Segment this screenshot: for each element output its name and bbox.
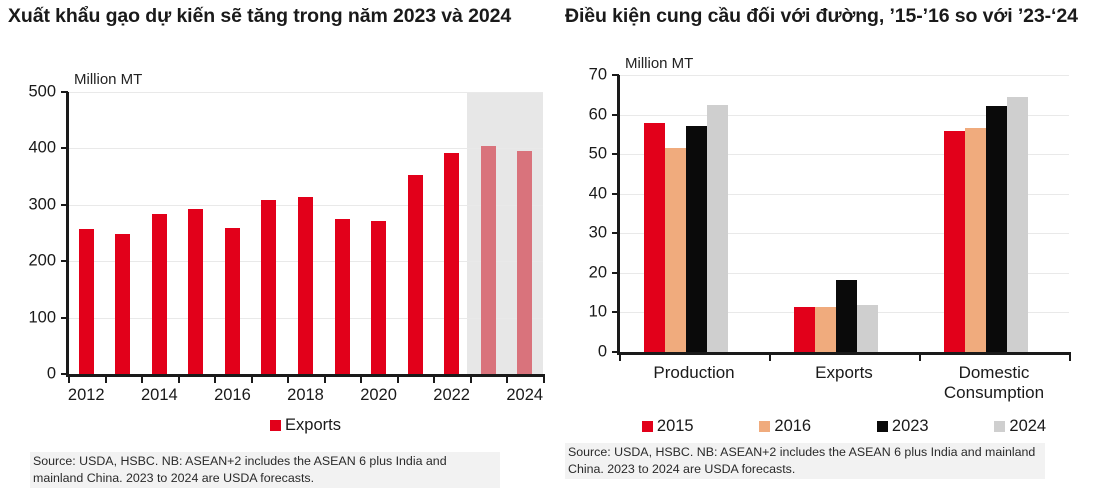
x-tick-mark xyxy=(769,354,771,361)
y-tick-mark xyxy=(612,311,619,313)
y-tick-mark xyxy=(61,147,68,149)
y-tick-label-500: 500 xyxy=(12,83,56,102)
right-source-note: Source: USDA, HSBC. NB: ASEAN+2 includes… xyxy=(565,443,1045,479)
gridline xyxy=(619,75,1069,76)
y-tick-mark xyxy=(612,74,619,76)
bar-exports-2017 xyxy=(261,200,276,374)
right-x-axis xyxy=(617,352,1071,355)
y-tick-label-40: 40 xyxy=(571,184,607,203)
x-tick-mark xyxy=(543,376,545,383)
y-tick-mark xyxy=(61,317,68,319)
legend-swatch-icon xyxy=(877,421,888,432)
y-tick-label-200: 200 xyxy=(12,252,56,271)
y-tick-label-20: 20 xyxy=(571,263,607,282)
x-tick-mark xyxy=(178,376,180,383)
bar-2023-exports xyxy=(836,280,857,352)
y-tick-label-0: 0 xyxy=(571,343,607,362)
category-label-production: Production xyxy=(619,363,769,383)
right-chart-title: Điều kiện cung cầu đối với đường, ’15-’1… xyxy=(553,0,1105,62)
right-axis-unit-label: Million MT xyxy=(625,55,693,72)
x-tick-mark xyxy=(506,376,508,383)
legend-item-2023[interactable]: 2023 xyxy=(877,417,929,436)
legend-swatch-icon xyxy=(994,421,1005,432)
bar-exports-2023 xyxy=(481,146,496,374)
bar-exports-2014 xyxy=(152,214,167,374)
y-tick-label-70: 70 xyxy=(571,66,607,85)
left-y-axis xyxy=(66,92,69,376)
x-tick-mark xyxy=(619,354,621,361)
y-tick-mark xyxy=(61,91,68,93)
y-tick-label-300: 300 xyxy=(12,195,56,214)
gridline xyxy=(68,148,543,149)
bar-exports-2020 xyxy=(371,221,386,374)
x-tick-mark xyxy=(141,376,143,383)
bar-2016-domestic-consumption xyxy=(965,128,986,352)
gridline xyxy=(68,92,543,93)
y-tick-label-60: 60 xyxy=(571,105,607,124)
y-tick-label-100: 100 xyxy=(12,308,56,327)
y-tick-mark xyxy=(612,232,619,234)
bar-exports-2012 xyxy=(79,229,94,374)
right-chart-area: Million MT 010203040506070ProductionExpo… xyxy=(561,62,1081,442)
bar-2024-exports xyxy=(857,305,878,352)
x-tick-mark xyxy=(397,376,399,383)
y-tick-label-30: 30 xyxy=(571,224,607,243)
bar-exports-2024 xyxy=(517,151,532,374)
y-tick-mark xyxy=(61,260,68,262)
y-tick-mark xyxy=(61,373,68,375)
x-tick-mark xyxy=(68,376,70,383)
y-tick-mark xyxy=(612,272,619,274)
x-tick-label-2020: 2020 xyxy=(349,386,409,405)
legend-label: 2016 xyxy=(774,417,811,436)
left-axis-unit-label: Million MT xyxy=(74,71,142,88)
bar-2024-domestic-consumption xyxy=(1007,97,1028,352)
y-tick-mark xyxy=(612,193,619,195)
bar-2015-domestic-consumption xyxy=(944,131,965,352)
left-x-axis xyxy=(66,374,545,377)
left-source-note: Source: USDA, HSBC. NB: ASEAN+2 includes… xyxy=(30,452,500,488)
legend-swatch-icon xyxy=(759,421,770,432)
y-tick-label-50: 50 xyxy=(571,145,607,164)
bar-2015-production xyxy=(644,123,665,353)
bar-2024-production xyxy=(707,105,728,352)
left-chart-legend: Exports xyxy=(68,416,543,435)
x-tick-mark xyxy=(214,376,216,383)
x-tick-label-2018: 2018 xyxy=(276,386,336,405)
legend-item-exports[interactable]: Exports xyxy=(270,416,341,435)
y-tick-mark xyxy=(612,114,619,116)
legend-item-2016[interactable]: 2016 xyxy=(759,417,811,436)
bar-2023-domestic-consumption xyxy=(986,106,1007,352)
category-label-exports: Exports xyxy=(769,363,919,383)
bar-exports-2015 xyxy=(188,209,203,374)
x-tick-mark xyxy=(360,376,362,383)
x-tick-mark xyxy=(105,376,107,383)
bar-2016-production xyxy=(665,148,686,352)
legend-swatch-icon xyxy=(642,421,653,432)
x-tick-label-2022: 2022 xyxy=(422,386,482,405)
y-tick-mark xyxy=(612,351,619,353)
legend-swatch-icon xyxy=(270,420,281,431)
x-tick-label-2012: 2012 xyxy=(56,386,116,405)
legend-label: 2023 xyxy=(892,417,929,436)
x-tick-mark xyxy=(287,376,289,383)
x-tick-mark xyxy=(324,376,326,383)
x-tick-label-2016: 2016 xyxy=(202,386,262,405)
y-tick-label-10: 10 xyxy=(571,303,607,322)
right-plot-region xyxy=(619,75,1069,352)
legend-label: 2015 xyxy=(657,417,694,436)
legend-item-2024[interactable]: 2024 xyxy=(994,417,1046,436)
y-tick-label-400: 400 xyxy=(12,139,56,158)
x-tick-mark xyxy=(433,376,435,383)
x-tick-label-2014: 2014 xyxy=(129,386,189,405)
y-tick-mark xyxy=(61,204,68,206)
right-chart-legend: 2015201620232024 xyxy=(609,417,1079,436)
right-chart-panel: Điều kiện cung cầu đối với đường, ’15-’1… xyxy=(553,0,1105,500)
legend-label: 2024 xyxy=(1009,417,1046,436)
x-tick-mark xyxy=(470,376,472,383)
bar-exports-2022 xyxy=(444,153,459,374)
bar-exports-2019 xyxy=(335,219,350,374)
legend-label: Exports xyxy=(285,416,341,435)
y-tick-mark xyxy=(612,153,619,155)
bar-exports-2013 xyxy=(115,234,130,374)
legend-item-2015[interactable]: 2015 xyxy=(642,417,694,436)
x-tick-mark xyxy=(251,376,253,383)
bar-2023-production xyxy=(686,126,707,352)
x-tick-mark xyxy=(1069,354,1071,361)
left-chart-area: Million MT 01002003004005002012201420162… xyxy=(8,62,558,449)
x-tick-label-2024: 2024 xyxy=(495,386,555,405)
bar-exports-2016 xyxy=(225,228,240,374)
category-label-domestic-consumption: Domestic Consumption xyxy=(919,363,1069,402)
y-tick-label-0: 0 xyxy=(12,365,56,384)
bar-exports-2018 xyxy=(298,197,313,374)
x-tick-mark xyxy=(919,354,921,361)
left-chart-panel: Xuất khẩu gạo dự kiến sẽ tăng trong năm … xyxy=(0,0,553,500)
dual-chart-figure: Xuất khẩu gạo dự kiến sẽ tăng trong năm … xyxy=(0,0,1105,500)
bar-2016-exports xyxy=(815,307,836,352)
left-plot-region xyxy=(68,92,543,374)
bar-2015-exports xyxy=(794,307,815,352)
left-chart-title: Xuất khẩu gạo dự kiến sẽ tăng trong năm … xyxy=(0,0,553,62)
bar-exports-2021 xyxy=(408,175,423,374)
